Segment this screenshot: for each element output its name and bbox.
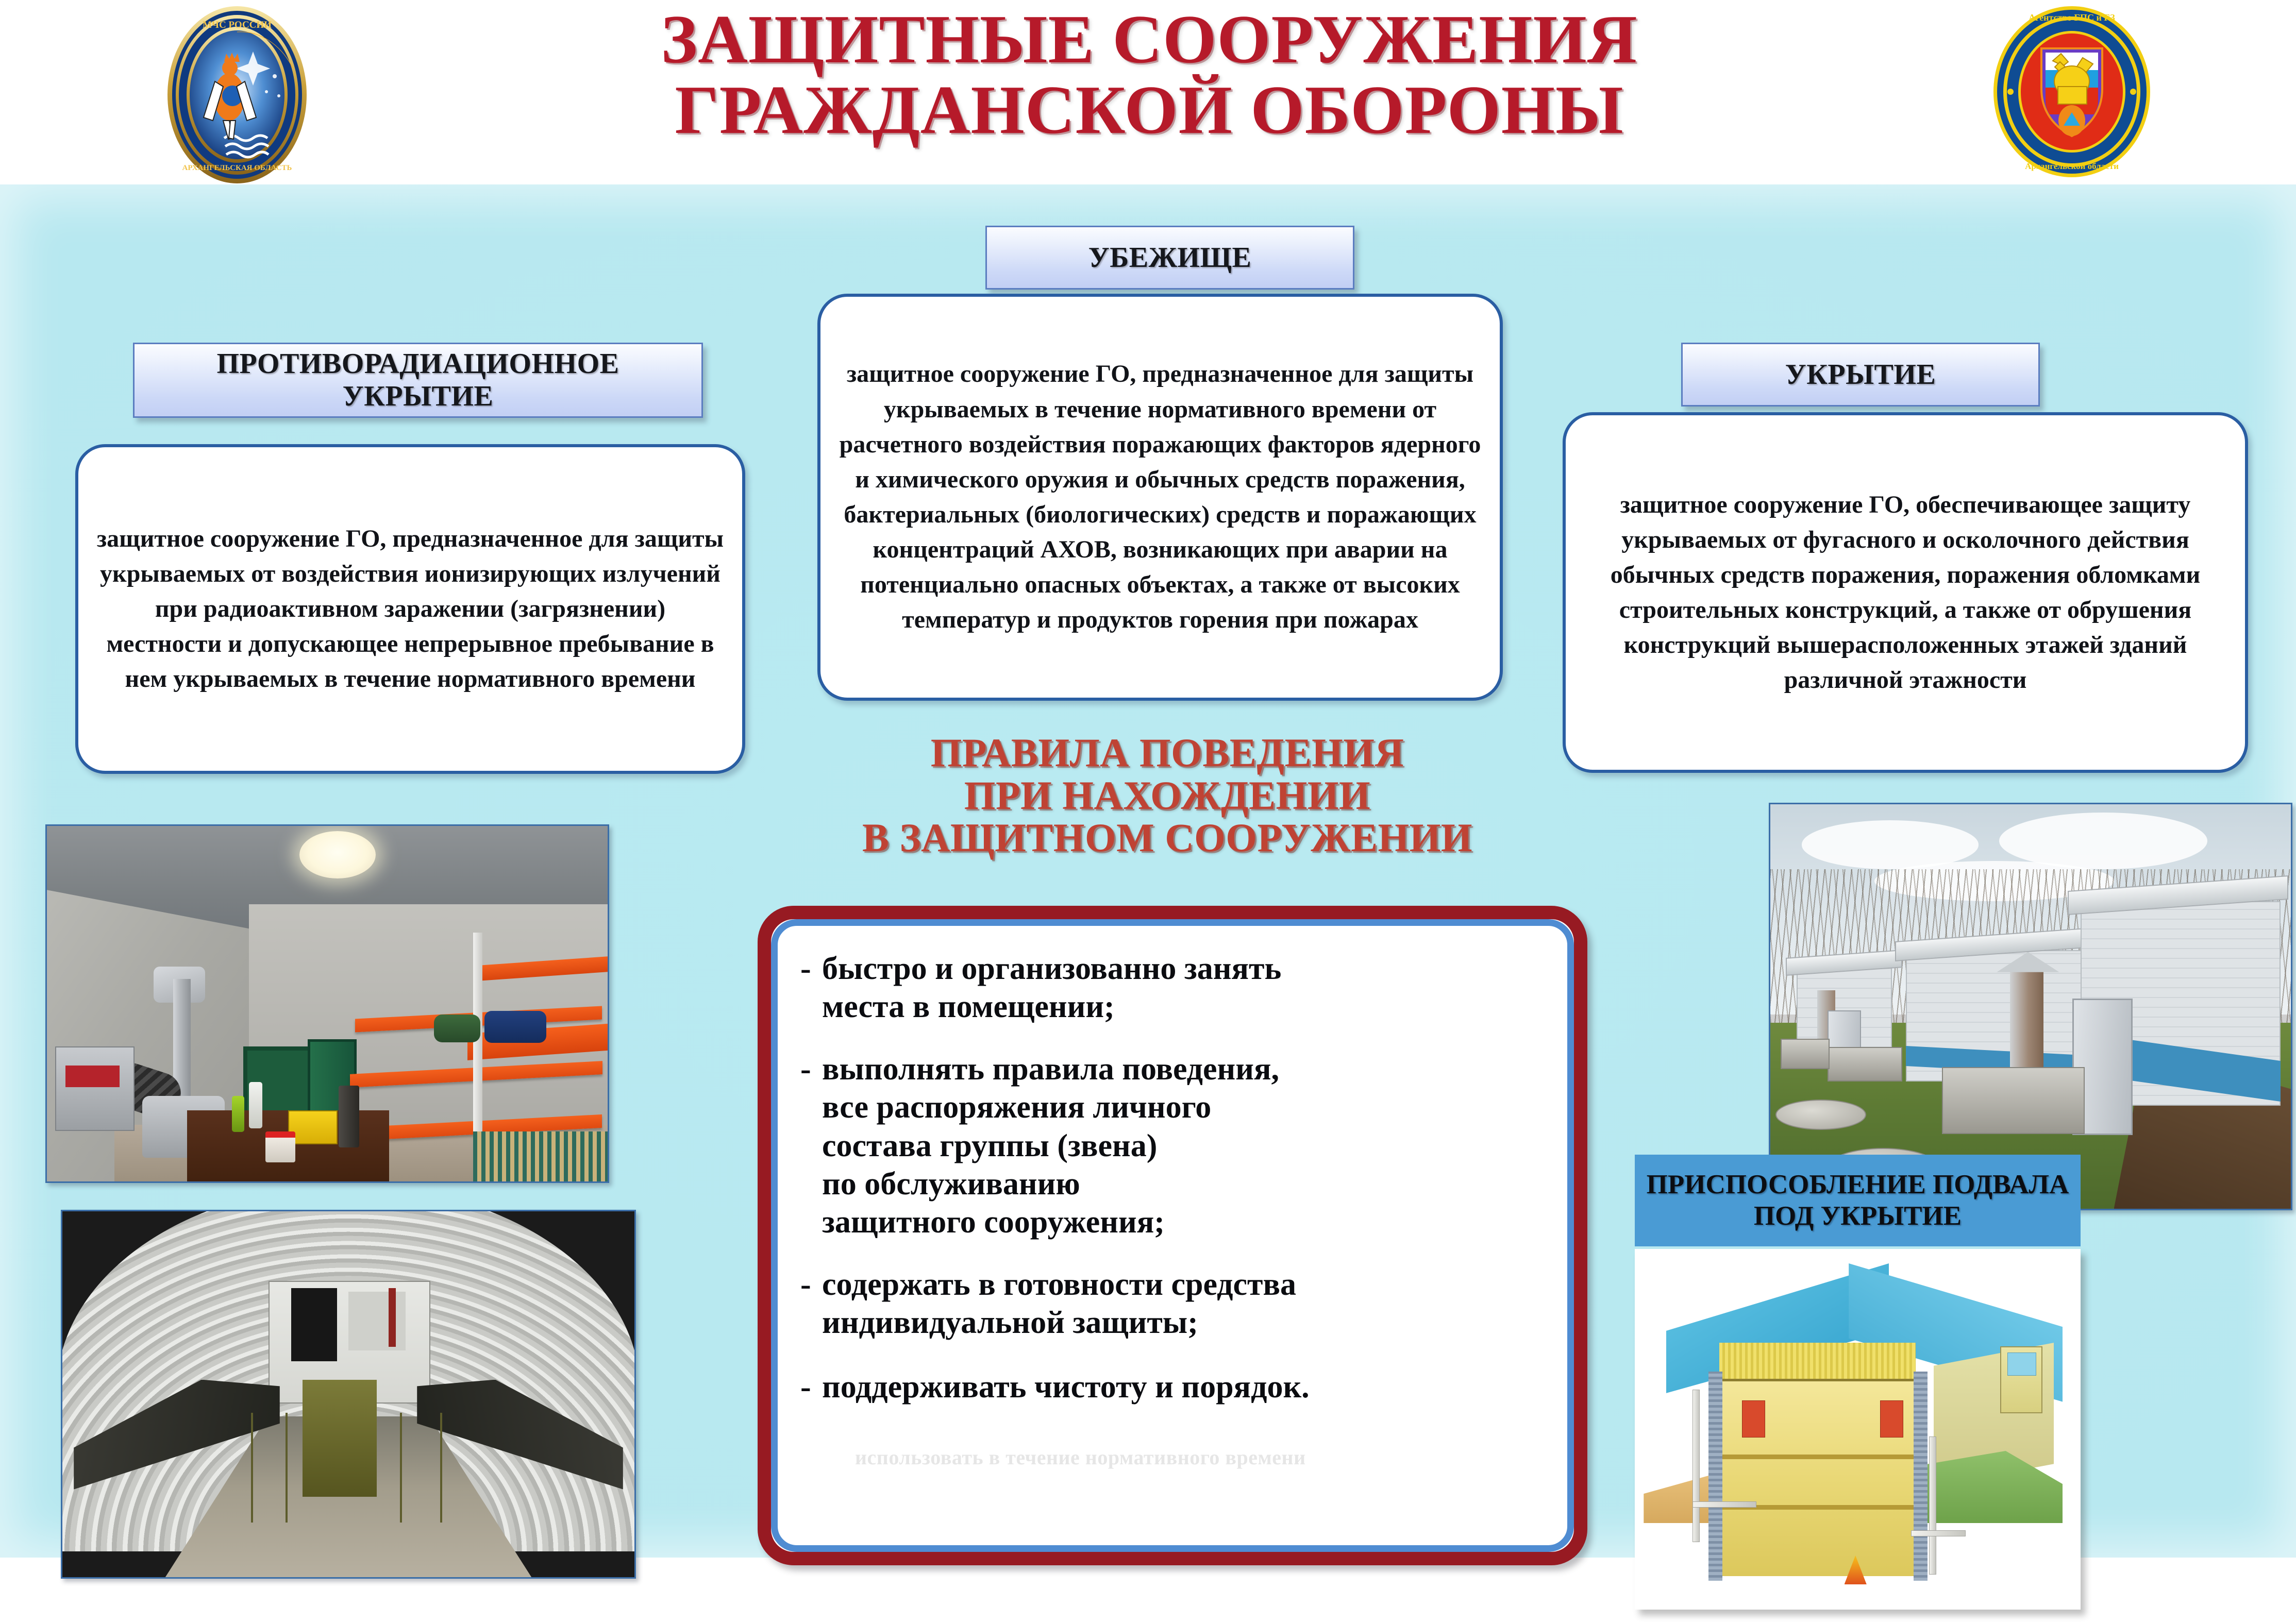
definition-text-ubezhishche: защитное сооружение ГО, предназначенное … (838, 357, 1482, 637)
svg-text:Архангельской области: Архангельской области (2025, 161, 2119, 171)
rule-text: поддерживать чистоту и порядок. (822, 1368, 1310, 1406)
rule-dash: - (800, 950, 822, 988)
rules-box-inner: использовать в течение нормативного врем… (771, 919, 1574, 1552)
poster-title: ЗАЩИТНЫЕ СООРУЖЕНИЯ ГРАЖДАНСКОЙ ОБОРОНЫ (490, 4, 1809, 145)
svg-text:Агентство ГПС и ГЗ: Агентство ГПС и ГЗ (2029, 12, 2115, 23)
rule-item: - поддерживать чистоту и порядок. (800, 1368, 1545, 1406)
svg-text:АРХАНГЕЛЬСКАЯ ОБЛАСТЬ: АРХАНГЕЛЬСКАЯ ОБЛАСТЬ (182, 164, 292, 172)
basement-adaptation-caption: ПРИСПОСОБЛЕНИЕ ПОДВАЛА ПОД УКРЫТИЕ (1635, 1155, 2081, 1246)
rules-heading-line-2: ПРИ НАХОЖДЕНИИ (763, 774, 1572, 817)
house-entrance-door-icon (2000, 1346, 2042, 1413)
svg-text:МЧС РОССИИ: МЧС РОССИИ (203, 20, 272, 30)
rules-heading: ПРАВИЛА ПОВЕДЕНИЯ ПРИ НАХОЖДЕНИИ В ЗАЩИТ… (763, 732, 1572, 859)
title-line-1: ЗАЩИТНЫЕ СООРУЖЕНИЯ (490, 4, 1809, 75)
caption-box-pru: ПРОТИВОРАДИАЦИОННОЕ УКРЫТИЕ (133, 343, 703, 418)
shelter-interior-photo (45, 824, 609, 1183)
caption-box-ukrytie: УКРЫТИЕ (1681, 343, 2040, 407)
basement-adaptation-caption-text: ПРИСПОСОБЛЕНИЕ ПОДВАЛА ПОД УКРЫТИЕ (1647, 1169, 2069, 1232)
definition-text-ukrytie: защитное сооружение ГО, обеспечивающее з… (1583, 487, 2227, 698)
poster-root: МЧС РОССИИ АРХАНГЕЛЬСКАЯ ОБЛАСТЬ ЗАЩИТНЫ… (0, 0, 2296, 1623)
rules-ghost-text: использовать в течение нормативного врем… (855, 1445, 1525, 1469)
rule-dash: - (800, 1265, 822, 1304)
title-line-2: ГРАЖДАНСКОЙ ОБОРОНЫ (490, 75, 1809, 145)
rule-text: содержать в готовности средства индивиду… (822, 1265, 1296, 1342)
definition-box-ubezhishche: защитное сооружение ГО, предназначенное … (817, 294, 1503, 701)
electrical-panel-icon (55, 1046, 135, 1131)
rule-item: - выполнять правила поведения, все распо… (800, 1050, 1545, 1242)
definition-text-pru: защитное сооружение ГО, предназначенное … (96, 521, 725, 697)
rule-text: быстро и организованно занять места в по… (822, 950, 1281, 1026)
definition-box-ukrytie: защитное сооружение ГО, обеспечивающее з… (1563, 412, 2248, 773)
poster-header: МЧС РОССИИ АРХАНГЕЛЬСКАЯ ОБЛАСТЬ ЗАЩИТНЫ… (0, 0, 2296, 184)
caption-box-ubezhishche: УБЕЖИЩЕ (985, 226, 1354, 290)
caption-text-ukrytie: УКРЫТИЕ (1785, 359, 1936, 391)
agency-gps-gz-emblem-icon: Агентство ГПС и ГЗ Архангельской области (1987, 4, 2157, 179)
ceiling-lamp-icon (299, 831, 376, 878)
ventilation-stack-icon (2010, 966, 2044, 1079)
rules-heading-line-3: В ЗАЩИТНОМ СООРУЖЕНИИ (763, 817, 1572, 859)
rule-item: - быстро и организованно занять места в … (800, 950, 1545, 1026)
arched-tunnel-shelter-photo (61, 1210, 636, 1579)
rule-text: выполнять правила поведения, все распоря… (822, 1050, 1279, 1242)
rules-box: использовать в течение нормативного врем… (758, 906, 1587, 1565)
definition-box-pru: защитное сооружение ГО, предназначенное … (75, 444, 745, 774)
rule-dash: - (800, 1050, 822, 1088)
caption-text-pru: ПРОТИВОРАДИАЦИОННОЕ УКРЫТИЕ (216, 348, 619, 412)
rule-dash: - (800, 1368, 822, 1406)
shelter-exterior-entrance-photo (1769, 803, 2292, 1210)
caption-text-ubezhishche: УБЕЖИЩЕ (1088, 242, 1252, 274)
rules-heading-line-1: ПРАВИЛА ПОВЕДЕНИЯ (763, 732, 1572, 774)
rule-item: - содержать в готовности средства индиви… (800, 1265, 1545, 1342)
emercom-russia-emblem-icon: МЧС РОССИИ АРХАНГЕЛЬСКАЯ ОБЛАСТЬ (147, 4, 327, 185)
basement-adaptation-diagram (1635, 1249, 2081, 1610)
